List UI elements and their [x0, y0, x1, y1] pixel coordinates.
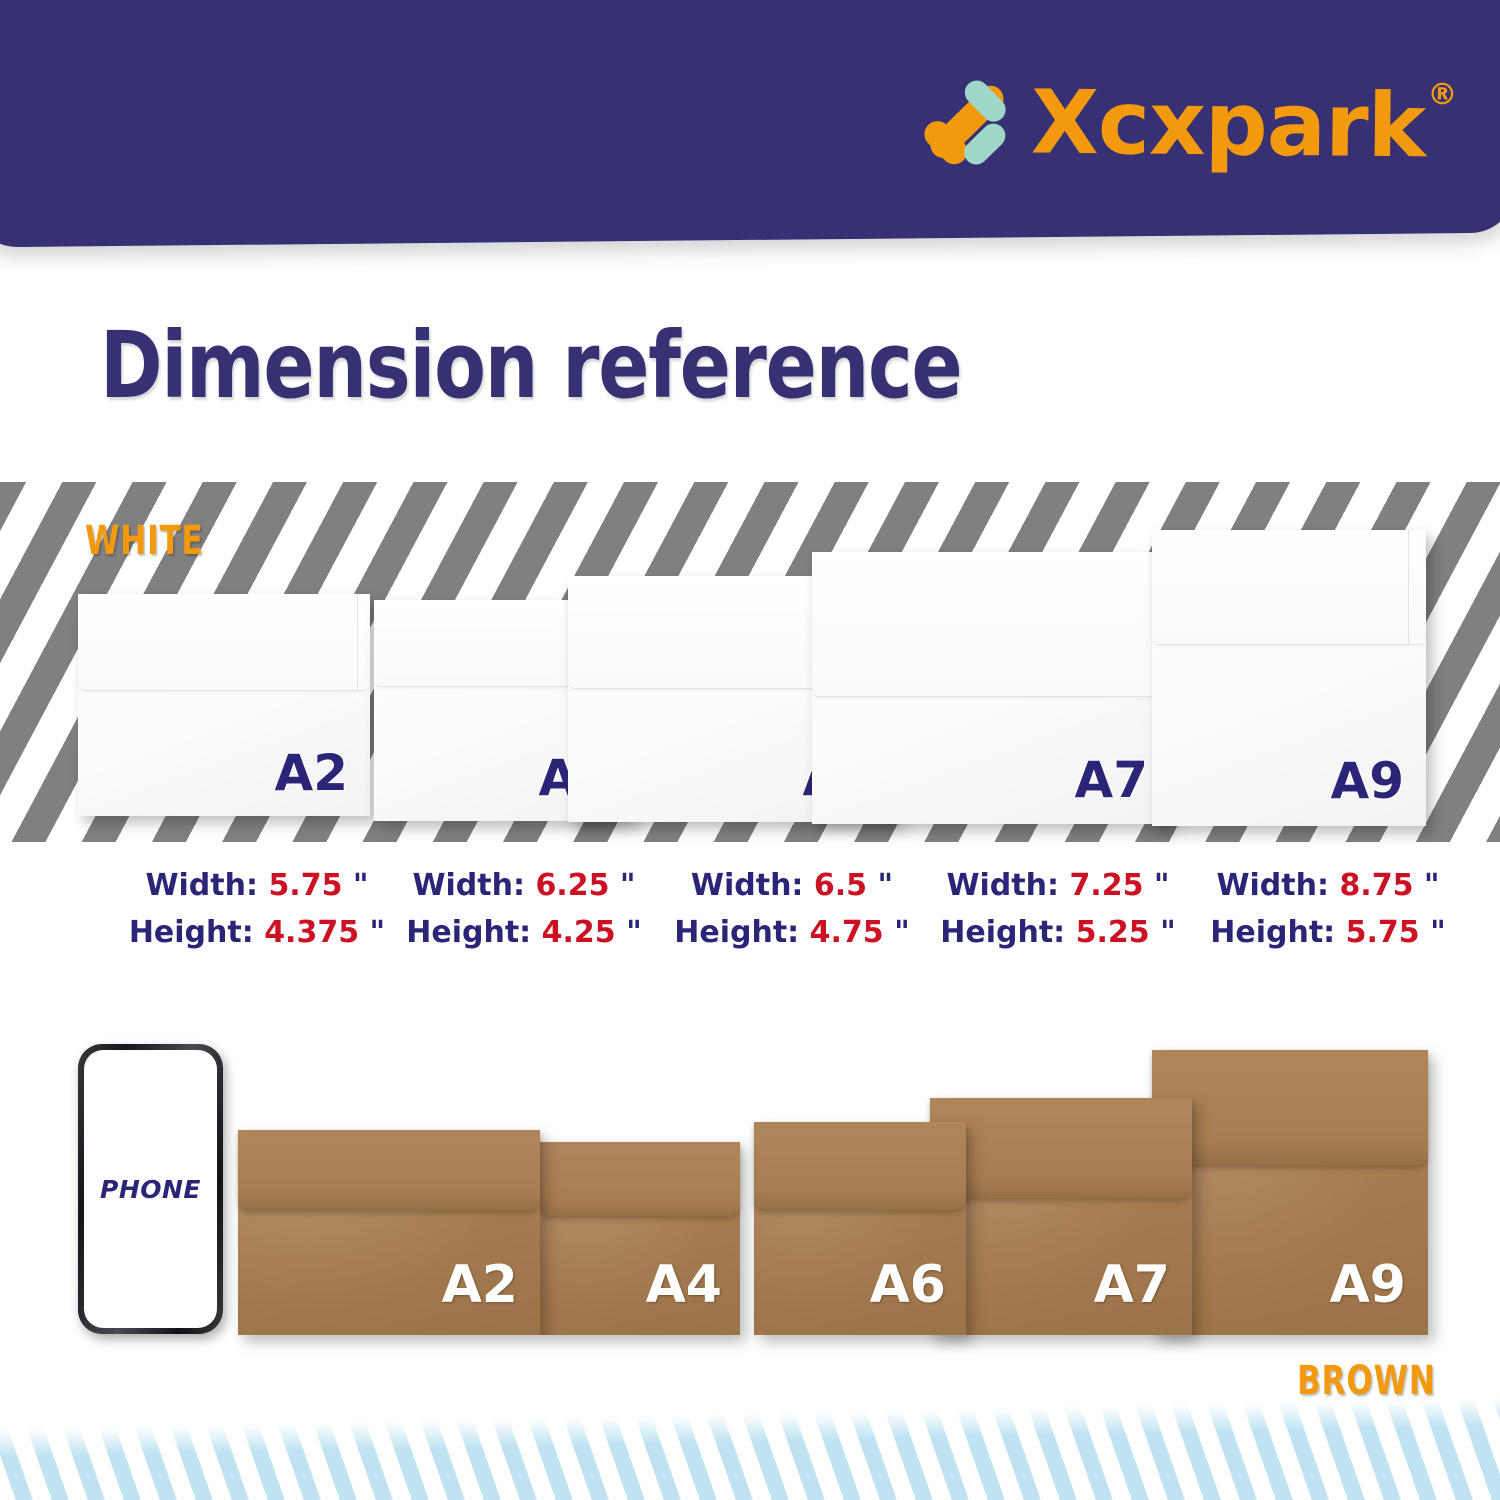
width-label: Width:	[412, 868, 525, 903]
width-value: 8.75	[1339, 868, 1413, 903]
dimension-col-a6: Width: 6.5 " Height: 4.75 "	[668, 862, 916, 957]
dimension-col-a4: Width: 6.25 " Height: 4.25 "	[400, 862, 648, 957]
brown-envelope-a2: A2	[238, 1130, 540, 1335]
brown-envelope-label: A9	[1330, 1259, 1406, 1311]
height-unit: "	[1430, 915, 1446, 950]
white-band-label: WHITE	[85, 518, 204, 564]
bottom-band-fade	[0, 1397, 1500, 1458]
height-unit: "	[370, 915, 386, 950]
dimension-col-a7: Width: 7.25 " Height: 5.25 "	[934, 862, 1182, 957]
dimension-height-row: Height: 4.375 "	[128, 909, 386, 956]
width-value: 6.5	[814, 868, 867, 903]
infographic-page: Xcxpark® Dimension reference WHITE A2 A4…	[0, 0, 1500, 1500]
white-envelope-a2: A2	[78, 594, 370, 816]
dimension-height-row: Height: 4.25 "	[400, 909, 648, 956]
dimension-height-row: Height: 4.75 "	[668, 909, 916, 956]
width-unit: "	[1154, 868, 1170, 903]
width-value: 5.75	[268, 868, 342, 903]
envelope-flap-notch	[1408, 530, 1409, 644]
brown-envelope-label: A2	[442, 1259, 518, 1311]
white-envelope-a7: A7	[812, 552, 1170, 824]
white-envelope-label: A2	[275, 748, 349, 798]
envelope-flap	[930, 1098, 1192, 1199]
envelope-flap	[1152, 1050, 1428, 1166]
envelope-flap	[78, 594, 370, 691]
height-value: 4.375	[264, 915, 359, 950]
brown-envelope-label: A6	[870, 1259, 946, 1311]
dimension-width-row: Width: 5.75 "	[128, 862, 386, 909]
width-value: 7.25	[1069, 868, 1143, 903]
white-envelope-label: A9	[1331, 756, 1405, 806]
bottom-stripe-band	[0, 1397, 1500, 1500]
phone-mockup: PHONE	[78, 1044, 223, 1334]
brand-logo: Xcxpark®	[920, 75, 1454, 172]
dimension-width-row: Width: 6.5 "	[668, 862, 916, 909]
brown-envelope-label: A4	[646, 1259, 722, 1311]
phone-label: PHONE	[100, 1175, 201, 1204]
brown-envelope-a6: A6	[754, 1122, 966, 1335]
x-mark-logo-icon	[920, 75, 1013, 168]
dimension-table: Width: 5.75 " Height: 4.375 " Width: 6.2…	[0, 862, 1500, 972]
width-value: 6.25	[535, 868, 609, 903]
height-unit: "	[626, 915, 642, 950]
width-unit: "	[353, 868, 369, 903]
height-unit: "	[1160, 915, 1176, 950]
dimension-width-row: Width: 6.25 "	[400, 862, 648, 909]
white-envelope-a9: A9	[1152, 530, 1426, 826]
width-label: Width:	[1216, 868, 1329, 903]
height-label: Height:	[1210, 915, 1335, 950]
envelope-flap	[754, 1122, 966, 1211]
height-label: Height:	[129, 915, 254, 950]
envelope-flap-notch	[357, 594, 358, 690]
height-value: 5.25	[1076, 915, 1150, 950]
page-title: Dimension reference	[100, 318, 961, 415]
width-label: Width:	[946, 868, 1059, 903]
dimension-height-row: Height: 5.75 "	[1204, 909, 1452, 956]
width-label: Width:	[691, 868, 804, 903]
brown-envelope-a7: A7	[930, 1098, 1192, 1335]
dimension-height-row: Height: 5.25 "	[934, 909, 1182, 956]
height-value: 5.75	[1346, 915, 1420, 950]
envelope-flap	[812, 552, 1170, 697]
brown-envelope-label: A7	[1094, 1259, 1170, 1311]
dimension-col-a9: Width: 8.75 " Height: 5.75 "	[1204, 862, 1452, 957]
height-value: 4.75	[810, 915, 884, 950]
brown-envelope-a4: A4	[540, 1142, 740, 1335]
envelope-flap	[238, 1130, 540, 1211]
brown-envelope-a9: A9	[1152, 1050, 1428, 1335]
white-envelope-label: A7	[1075, 755, 1149, 805]
height-label: Height:	[674, 915, 799, 950]
phone-screen: PHONE	[84, 1050, 217, 1328]
dimension-col-a2: Width: 5.75 " Height: 4.375 "	[128, 862, 386, 957]
height-value: 4.25	[542, 915, 616, 950]
width-unit: "	[1424, 868, 1440, 903]
brown-band-label: BROWN	[1297, 1358, 1436, 1404]
width-unit: "	[877, 868, 893, 903]
envelope-flap	[540, 1142, 740, 1217]
brand-name: Xcxpark®	[1031, 78, 1455, 170]
height-label: Height:	[940, 915, 1065, 950]
dimension-width-row: Width: 7.25 "	[934, 862, 1182, 909]
brand-name-text: Xcxpark	[1030, 70, 1425, 177]
envelope-flap	[1152, 530, 1426, 645]
registered-trademark-icon: ®	[1427, 77, 1456, 112]
height-unit: "	[894, 915, 910, 950]
height-label: Height:	[406, 915, 531, 950]
width-label: Width:	[145, 868, 258, 903]
dimension-width-row: Width: 8.75 "	[1204, 862, 1452, 909]
width-unit: "	[620, 868, 636, 903]
